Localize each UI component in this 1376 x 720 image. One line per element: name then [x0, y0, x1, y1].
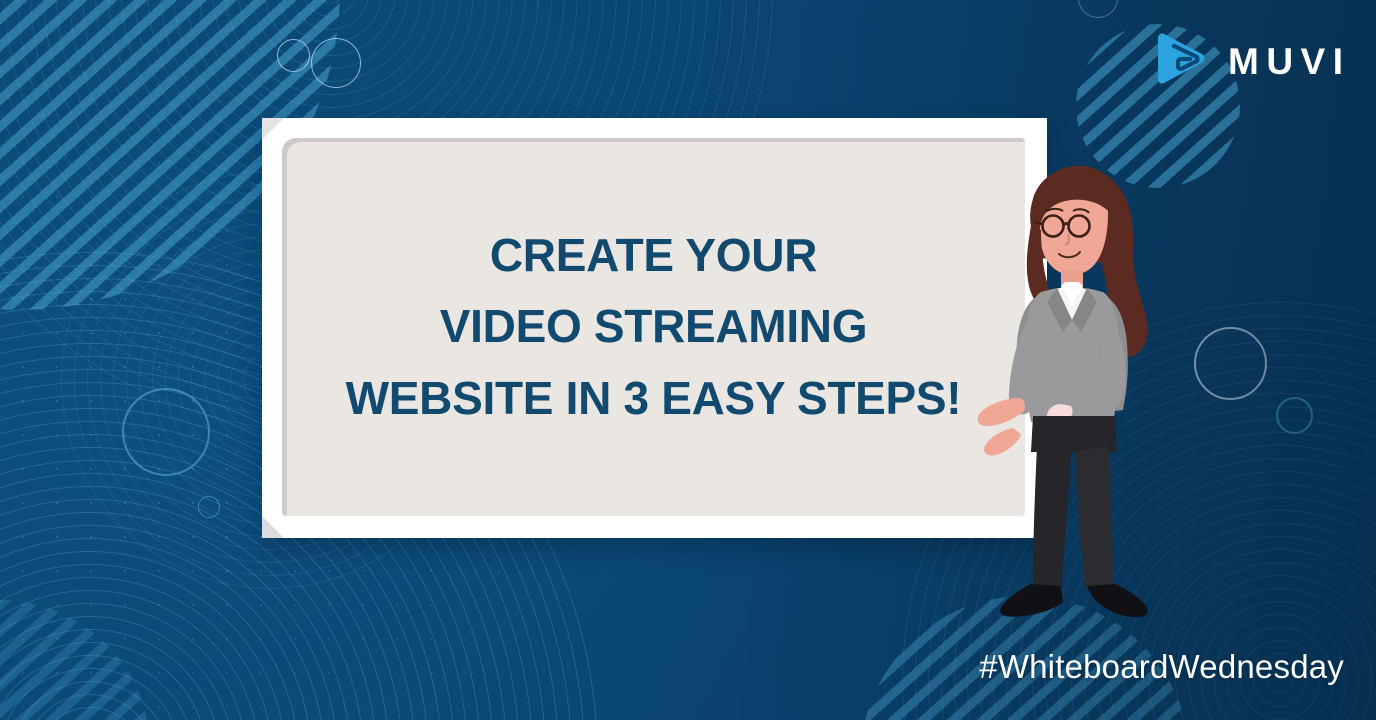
hashtag-label: #WhiteboardWednesday [979, 648, 1344, 686]
muvi-wordmark: MUVI [1228, 43, 1351, 80]
muvi-logo[interactable]: MUVI [1152, 30, 1364, 92]
heading-line-1: CREATE YOUR [306, 220, 1001, 291]
promo-banner: CREATE YOUR VIDEO STREAMING WEBSITE IN 3… [0, 0, 1376, 720]
woman-presenter-illustration [975, 160, 1175, 625]
heading-line-2: VIDEO STREAMING [306, 291, 1001, 362]
whiteboard-heading: CREATE YOUR VIDEO STREAMING WEBSITE IN 3… [282, 220, 1025, 434]
shoe-left-icon [1000, 584, 1063, 617]
leg-right-icon [1075, 446, 1113, 590]
whiteboard-surface: CREATE YOUR VIDEO STREAMING WEBSITE IN 3… [282, 138, 1025, 516]
whiteboard: CREATE YOUR VIDEO STREAMING WEBSITE IN 3… [262, 118, 1047, 538]
waist-icon [1031, 416, 1117, 452]
shoe-right-icon [1087, 584, 1148, 617]
muvi-play-mark-icon [1152, 32, 1208, 90]
heading-line-3: WEBSITE IN 3 EASY STEPS! [306, 363, 1001, 434]
leg-left-icon [1033, 446, 1071, 590]
hand-left-icon [978, 398, 1025, 426]
hand-lower-icon [984, 428, 1021, 456]
